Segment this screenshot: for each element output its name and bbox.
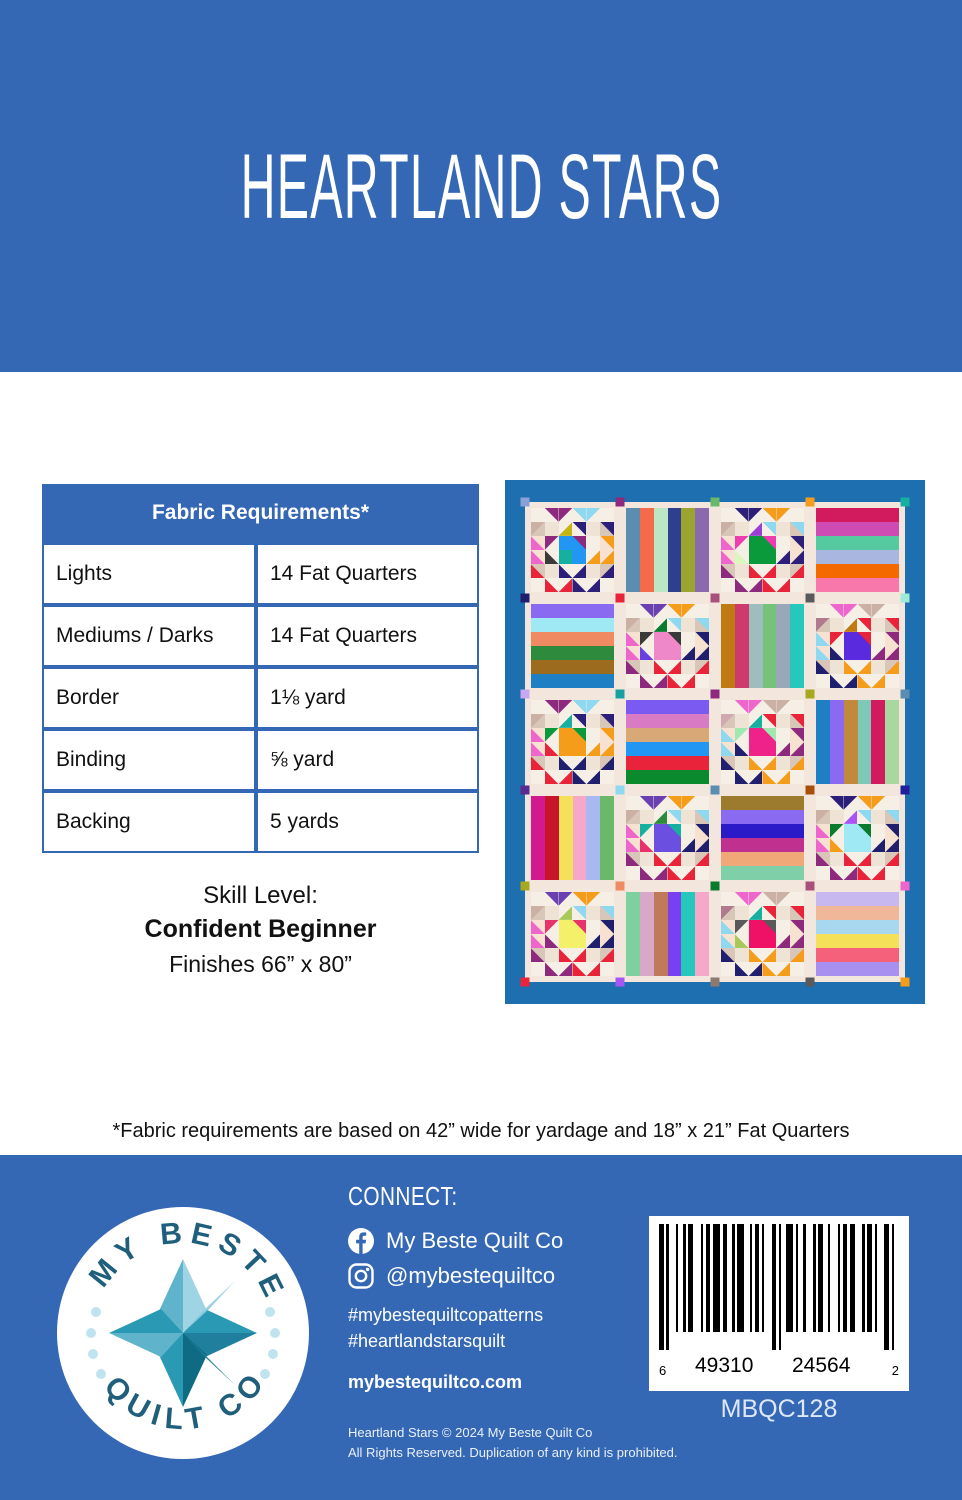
hashtags: #mybestequiltcopatterns #heartlandstarsq… [348,1303,638,1354]
stripe-block [721,604,805,688]
cornerstone [901,594,910,603]
cornerstone [711,690,720,699]
cornerstone [616,498,625,507]
skill-level-block: Skill Level: Confident Beginner Finishes… [42,880,479,983]
finished-size: Finishes 66” x 80” [42,947,479,983]
barcode-left-digit: 6 [659,1363,666,1378]
quilt-star-block [810,790,905,886]
stripe-block [626,892,710,976]
cornerstone [901,498,910,507]
table-row: Mediums / Darks14 Fat Quarters [42,605,479,667]
stripe-block [721,796,805,880]
cornerstone [711,498,720,507]
barcode-group-1: 49310 [695,1354,753,1378]
cornerstone [616,786,625,795]
fabric-amount-cell: ⅝ yard [256,729,479,791]
skill-level-label: Skill Level: [42,880,479,912]
barcode-bars [659,1224,899,1350]
quilt-stripe-block [525,598,620,694]
star-block [531,700,615,784]
quilt-star-block [715,502,810,598]
website-url[interactable]: mybestequiltco.com [348,1372,638,1393]
facebook-handle: My Beste Quilt Co [386,1228,563,1254]
table-row: Backing5 yards [42,791,479,853]
fabric-amount-cell: 1⅛ yard [256,667,479,729]
cornerstone [901,786,910,795]
cornerstone [521,978,530,987]
fabric-amount-cell: 14 Fat Quarters [256,543,479,605]
star-block [531,508,615,592]
cornerstone [901,882,910,891]
table-row: Lights14 Fat Quarters [42,543,479,605]
quilt-star-block [525,886,620,982]
connect-title: CONNECT: [348,1181,580,1212]
main-content: Fabric Requirements* Lights14 Fat Quarte… [0,372,962,1155]
stripe-block [816,508,900,592]
barcode: 6 49310 24564 2 [649,1216,909,1391]
header-banner: HEARTLAND STARS [0,0,962,372]
fabric-type-cell: Backing [42,791,256,853]
cornerstone [806,786,815,795]
fabric-amount-cell: 5 yards [256,791,479,853]
stripe-block [816,700,900,784]
cornerstone [806,882,815,891]
stripe-block [531,604,615,688]
cornerstone [616,882,625,891]
quilt-stripe-block [810,694,905,790]
cornerstone [711,594,720,603]
stripe-block [816,892,900,976]
quilt-block-grid [525,502,905,982]
cornerstone [521,882,530,891]
quilt-star-block [715,886,810,982]
cornerstone [806,498,815,507]
fabric-footnote: *Fabric requirements are based on 42” wi… [0,1120,962,1143]
copyright-block: Heartland Stars © 2024 My Beste Quilt Co… [348,1423,678,1462]
star-block [531,892,615,976]
quilt-stripe-block [620,886,715,982]
star-block [721,892,805,976]
cornerstone [616,594,625,603]
quilt-star-block [810,598,905,694]
quilt-star-block [715,694,810,790]
barcode-right-digit: 2 [892,1363,899,1378]
cornerstone [806,594,815,603]
cornerstone [901,690,910,699]
quilt-stripe-block [715,598,810,694]
skill-level-value: Confident Beginner [42,912,479,948]
page-title: HEARTLAND STARS [240,132,722,239]
star-block [626,604,710,688]
cornerstone [616,978,625,987]
cornerstone [901,978,910,987]
facebook-row[interactable]: My Beste Quilt Co [348,1228,638,1254]
logo-artwork: MY BESTE QUILT CO [57,1207,309,1459]
cornerstone [521,594,530,603]
pattern-back-cover: HEARTLAND STARS Fabric Requirements* Lig… [0,0,962,1500]
cornerstone [806,978,815,987]
cornerstone [616,690,625,699]
quilt-stripe-block [715,790,810,886]
sku-code: MBQC128 [649,1395,909,1424]
fabric-requirements-table: Fabric Requirements* Lights14 Fat Quarte… [42,484,479,853]
quilt-stripe-block [620,694,715,790]
quilt-star-block [525,694,620,790]
fabric-type-cell: Binding [42,729,256,791]
cornerstone [521,498,530,507]
quilt-stripe-block [810,502,905,598]
stripe-block [626,508,710,592]
quilt-stripe-block [620,502,715,598]
copyright-line-2: All Rights Reserved. Duplication of any … [348,1443,678,1463]
barcode-group-2: 24564 [792,1354,850,1378]
star-block [721,508,805,592]
star-block [721,700,805,784]
stripe-block [626,700,710,784]
table-header: Fabric Requirements* [42,484,479,543]
instagram-row[interactable]: @mybestequiltco [348,1263,638,1289]
quilt-star-block [525,502,620,598]
cornerstone [521,690,530,699]
cornerstone [711,786,720,795]
fabric-amount-cell: 14 Fat Quarters [256,605,479,667]
stripe-block [531,796,615,880]
table-row: Binding⅝ yard [42,729,479,791]
brand-logo: MY BESTE QUILT CO [57,1207,309,1459]
fabric-type-cell: Lights [42,543,256,605]
star-block [816,796,900,880]
fabric-type-cell: Border [42,667,256,729]
quilt-image [505,480,925,1004]
connect-block: CONNECT: My Beste Quilt Co [348,1181,638,1393]
quilt-stripe-block [525,790,620,886]
instagram-icon [348,1263,374,1289]
star-block [626,796,710,880]
facebook-icon [348,1228,374,1254]
fabric-type-cell: Mediums / Darks [42,605,256,667]
barcode-numbers: 6 49310 24564 2 [659,1350,899,1378]
cornerstone [711,882,720,891]
cornerstone [806,690,815,699]
cornerstone [711,978,720,987]
quilt-stripe-block [810,886,905,982]
hashtag-2: #heartlandstarsquilt [348,1329,638,1355]
table-row: Border1⅛ yard [42,667,479,729]
quilt-star-block [620,598,715,694]
copyright-line-1: Heartland Stars © 2024 My Beste Quilt Co [348,1423,678,1443]
instagram-handle: @mybestequiltco [386,1263,555,1289]
cornerstone [521,786,530,795]
star-block [816,604,900,688]
hashtag-1: #mybestequiltcopatterns [348,1303,638,1329]
quilt-star-block [620,790,715,886]
